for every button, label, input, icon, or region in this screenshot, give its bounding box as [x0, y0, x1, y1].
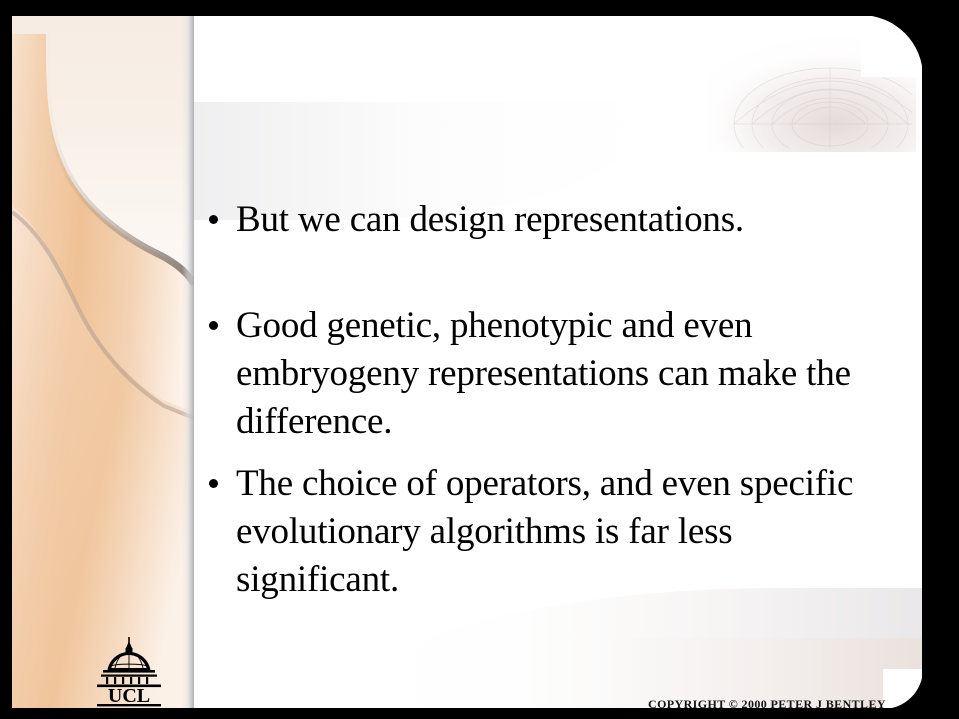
slide-body: But we can design representations. Good …	[200, 196, 900, 604]
ucl-logo-text: UCL	[108, 685, 150, 707]
slide-page: UCL But we can design representations. G…	[12, 16, 922, 708]
bullet-text-1: But we can design representations.	[236, 199, 744, 240]
architecture-wireframe-icon	[12, 16, 194, 708]
dome-texture	[706, 22, 916, 152]
slide-frame: UCL But we can design representations. G…	[0, 0, 959, 719]
decorative-sidebar: UCL	[12, 16, 194, 708]
bullet-item-3: The choice of operators, and even specif…	[200, 460, 900, 604]
bullet-dot-icon	[209, 479, 218, 488]
bullet-text-3: The choice of operators, and even specif…	[236, 463, 853, 600]
dome-wireframe-icon	[712, 28, 912, 148]
footer-grey-wash	[362, 588, 922, 708]
page-corner-bottom-right	[883, 669, 922, 708]
bullet-list: But we can design representations. Good …	[200, 196, 900, 604]
bullet-dot-icon	[209, 215, 218, 224]
copyright-notice: COPYRIGHT © 2000 PETER J BENTLEY	[648, 697, 886, 708]
bullet-text-2: Good genetic, phenotypic and even embryo…	[236, 305, 851, 442]
ucl-logo: UCL	[87, 636, 173, 708]
bullet-item-1: But we can design representations.	[200, 196, 900, 244]
bullet-dot-icon	[209, 321, 218, 330]
bullet-item-2: Good genetic, phenotypic and even embryo…	[200, 302, 900, 446]
page-corner-top-right	[861, 16, 922, 77]
